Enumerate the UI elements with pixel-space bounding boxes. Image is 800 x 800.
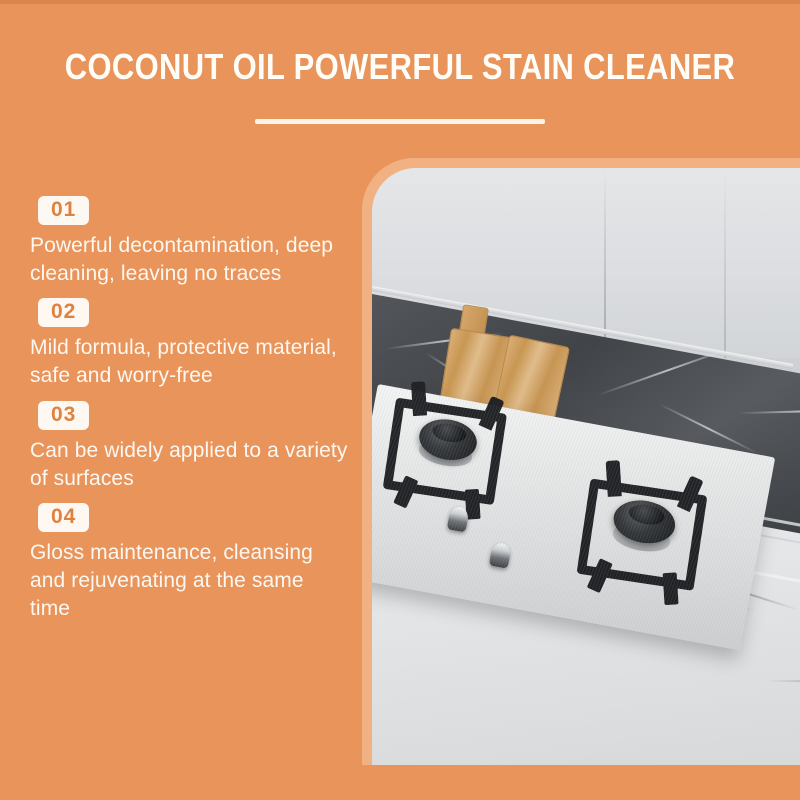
list-item: 04 Gloss maintenance, cleansing and reju… — [30, 503, 360, 623]
grate-arm — [465, 489, 481, 520]
burner-ring — [611, 520, 673, 556]
grate-arm — [677, 475, 704, 512]
list-item: 03 Can be widely applied to a variety of… — [30, 401, 360, 493]
feature-text: Can be widely applied to a variety of su… — [30, 437, 348, 493]
burner-cap — [431, 421, 468, 445]
grate-arm — [393, 475, 418, 508]
status-badge: 04 — [38, 503, 89, 532]
burner-grate-right — [577, 478, 708, 590]
feature-list: 01 Powerful decontamination, deep cleani… — [30, 196, 360, 633]
title-underline-rule — [255, 119, 545, 124]
status-badge: 03 — [38, 401, 89, 430]
burner-grate-left — [383, 398, 507, 506]
grate-arm — [663, 572, 679, 605]
control-knob[interactable] — [447, 505, 470, 532]
feature-text: Powerful decontamination, deep cleaning,… — [30, 232, 348, 288]
grate-arm — [587, 558, 613, 593]
status-badge: 01 — [38, 196, 89, 225]
control-knob[interactable] — [489, 542, 512, 569]
list-item: 01 Powerful decontamination, deep cleani… — [30, 196, 360, 288]
page-title: COCONUT OIL POWERFUL STAIN CLEANER — [56, 48, 744, 86]
burner-head-left — [416, 415, 480, 465]
list-item: 02 Mild formula, protective material, sa… — [30, 298, 360, 390]
feature-text: Mild formula, protective material, safe … — [30, 334, 348, 390]
top-accent-strip — [0, 0, 800, 4]
header: COCONUT OIL POWERFUL STAIN CLEANER — [0, 48, 800, 86]
burner-ring — [417, 437, 474, 470]
product-photo — [372, 168, 800, 765]
grate-arm — [606, 460, 622, 497]
cabinet-seam — [724, 168, 726, 358]
burner-head-right — [610, 496, 679, 549]
grate-arm — [411, 381, 427, 416]
status-badge: 02 — [38, 298, 89, 327]
feature-text: Gloss maintenance, cleansing and rejuven… — [30, 539, 348, 623]
burner-cap — [627, 502, 666, 527]
